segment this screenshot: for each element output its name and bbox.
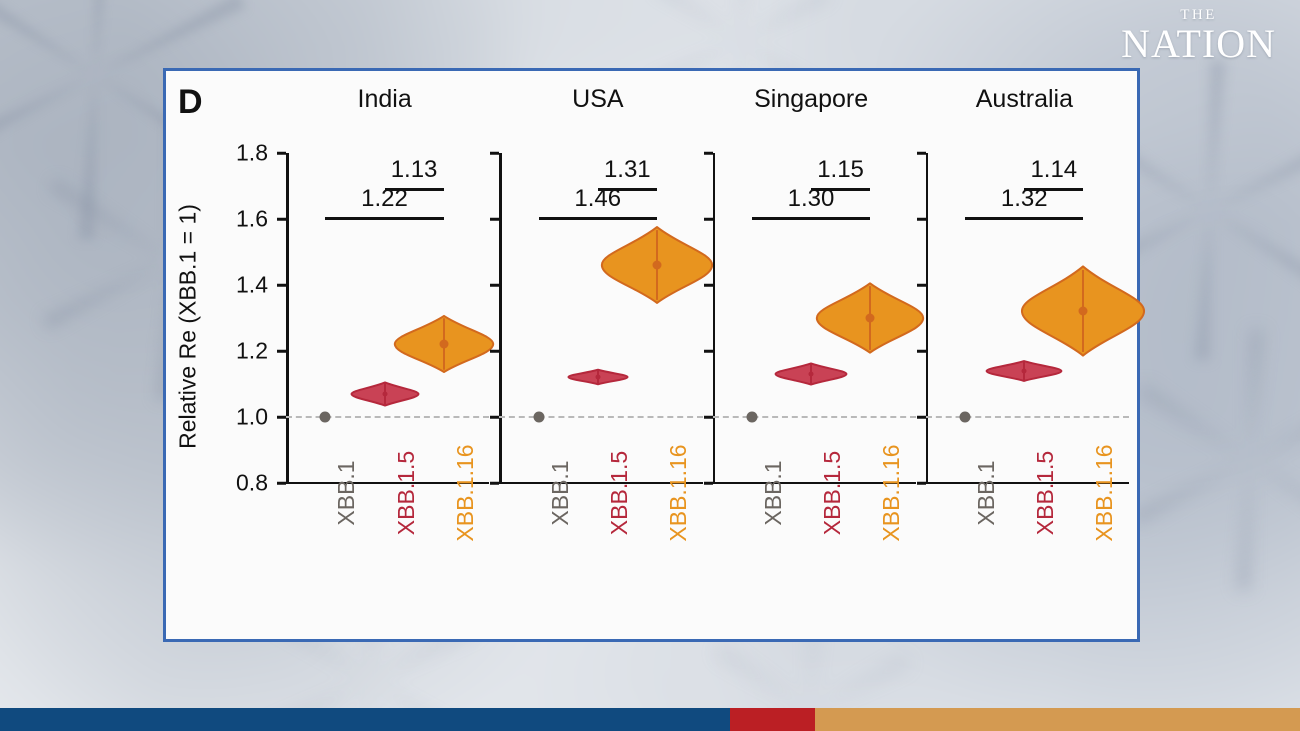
y-axis-spine xyxy=(499,153,502,483)
y-tick-mark xyxy=(704,416,713,419)
data-point-xbb1 xyxy=(960,412,971,423)
x-tick-label: XBB.1.5 xyxy=(606,451,633,535)
brand-bar xyxy=(0,708,1300,731)
bracket-value-label: 1.22 xyxy=(361,185,408,213)
violin-xbb-1-5 xyxy=(984,358,1065,384)
y-tick-mark xyxy=(917,218,926,221)
violin-xbb-1-16 xyxy=(391,313,496,375)
panel-title: USA xyxy=(491,85,704,114)
y-tick-mark xyxy=(490,218,499,221)
x-tick-label: XBB.1.5 xyxy=(819,451,846,535)
y-tick-label: 1.2 xyxy=(236,338,268,365)
comparison-bracket xyxy=(325,217,443,220)
chart-panel-india: India1.131.22XBB.1XBB.1.5XBB.1.16 xyxy=(278,71,491,639)
y-tick-label: 1.8 xyxy=(236,140,268,167)
y-axis-spine xyxy=(286,153,289,483)
x-axis-tick-labels: XBB.1XBB.1.5XBB.1.16 xyxy=(286,489,483,639)
y-tick-mark xyxy=(917,416,926,419)
x-tick-label: XBB.1.16 xyxy=(665,444,692,541)
y-tick-mark xyxy=(277,482,286,485)
y-tick-mark xyxy=(704,152,713,155)
y-tick-mark xyxy=(490,152,499,155)
reference-line xyxy=(499,416,702,418)
y-tick-label: 1.6 xyxy=(236,206,268,233)
y-tick-mark xyxy=(490,482,499,485)
brand-bar-red xyxy=(730,708,815,731)
x-tick-label: XBB.1.16 xyxy=(878,444,905,541)
x-axis-tick-labels: XBB.1XBB.1.5XBB.1.16 xyxy=(499,489,696,639)
violin-xbb-1-5 xyxy=(773,361,850,388)
x-tick-label: XBB.1 xyxy=(333,460,360,525)
y-tick-label: 1.0 xyxy=(236,404,268,431)
chart-panel-usa: USA1.311.46XBB.1XBB.1.5XBB.1.16 xyxy=(491,71,704,639)
panel-title: Australia xyxy=(918,85,1131,114)
bracket-value-label: 1.30 xyxy=(788,185,835,213)
x-tick-label: XBB.1 xyxy=(760,460,787,525)
panel-title: India xyxy=(278,85,491,114)
x-tick-label: XBB.1.16 xyxy=(1091,444,1118,541)
plot-area: 1.141.32 xyxy=(926,153,1123,483)
x-tick-label: XBB.1.5 xyxy=(393,451,420,535)
chart-panel-australia: Australia1.141.32XBB.1XBB.1.5XBB.1.16 xyxy=(918,71,1131,639)
bracket-value-label: 1.32 xyxy=(1001,185,1048,213)
x-tick-label: XBB.1.16 xyxy=(452,444,479,541)
y-tick-mark xyxy=(277,218,286,221)
data-point-xbb1 xyxy=(320,412,331,423)
violin-xbb-1-5 xyxy=(348,379,421,408)
bracket-value-label: 1.13 xyxy=(391,156,438,184)
chart-panel-singapore: Singapore1.151.30XBB.1XBB.1.5XBB.1.16 xyxy=(705,71,918,639)
y-axis-spine xyxy=(713,153,716,483)
y-tick-mark xyxy=(277,350,286,353)
plot-area: 1.311.46 xyxy=(499,153,696,483)
reference-line xyxy=(713,416,916,418)
plot-area: 1.151.30 xyxy=(713,153,910,483)
y-tick-mark xyxy=(917,350,926,353)
brand-bar-gold xyxy=(815,708,1300,731)
y-axis-tick-labels: 1.81.61.41.21.00.8 xyxy=(188,71,268,639)
y-tick-label: 0.8 xyxy=(236,470,268,497)
y-tick-mark xyxy=(704,350,713,353)
bracket-value-label: 1.46 xyxy=(574,185,621,213)
violin-xbb-1-5 xyxy=(565,367,630,388)
reference-line xyxy=(286,416,489,418)
y-tick-mark xyxy=(917,482,926,485)
comparison-bracket xyxy=(539,217,657,220)
violin-xbb-1-16 xyxy=(814,280,926,355)
reference-line xyxy=(926,416,1129,418)
x-tick-label: XBB.1 xyxy=(547,460,574,525)
y-tick-mark xyxy=(277,152,286,155)
y-tick-mark xyxy=(704,284,713,287)
y-tick-mark xyxy=(277,284,286,287)
y-tick-mark xyxy=(490,284,499,287)
comparison-bracket xyxy=(965,217,1083,220)
brand-bar-blue xyxy=(0,708,730,731)
y-tick-label: 1.4 xyxy=(236,272,268,299)
x-tick-label: XBB.1 xyxy=(973,460,1000,525)
y-tick-mark xyxy=(917,152,926,155)
panel-title: Singapore xyxy=(705,85,918,114)
y-tick-mark xyxy=(704,218,713,221)
logo-nation: NATION xyxy=(1121,23,1276,65)
bracket-value-label: 1.14 xyxy=(1030,156,1077,184)
violin-xbb-1-16 xyxy=(1019,264,1147,359)
comparison-bracket xyxy=(752,217,870,220)
y-tick-mark xyxy=(917,284,926,287)
violin-xbb-1-16 xyxy=(599,224,715,306)
y-tick-mark xyxy=(277,416,286,419)
panel-row: India1.131.22XBB.1XBB.1.5XBB.1.16USA1.31… xyxy=(278,71,1131,639)
x-axis-tick-labels: XBB.1XBB.1.5XBB.1.16 xyxy=(713,489,910,639)
data-point-xbb1 xyxy=(533,412,544,423)
y-tick-mark xyxy=(490,416,499,419)
x-axis-tick-labels: XBB.1XBB.1.5XBB.1.16 xyxy=(926,489,1123,639)
y-axis-spine xyxy=(926,153,929,483)
data-point-xbb1 xyxy=(746,412,757,423)
y-tick-mark xyxy=(704,482,713,485)
y-tick-mark xyxy=(490,350,499,353)
bracket-value-label: 1.31 xyxy=(604,156,651,184)
nation-logo: THE NATION xyxy=(1121,8,1276,65)
plot-area: 1.131.22 xyxy=(286,153,483,483)
bracket-value-label: 1.15 xyxy=(817,156,864,184)
figure-panel: D Relative Re (XBB.1 = 1) 1.81.61.41.21.… xyxy=(163,68,1140,642)
x-tick-label: XBB.1.5 xyxy=(1032,451,1059,535)
